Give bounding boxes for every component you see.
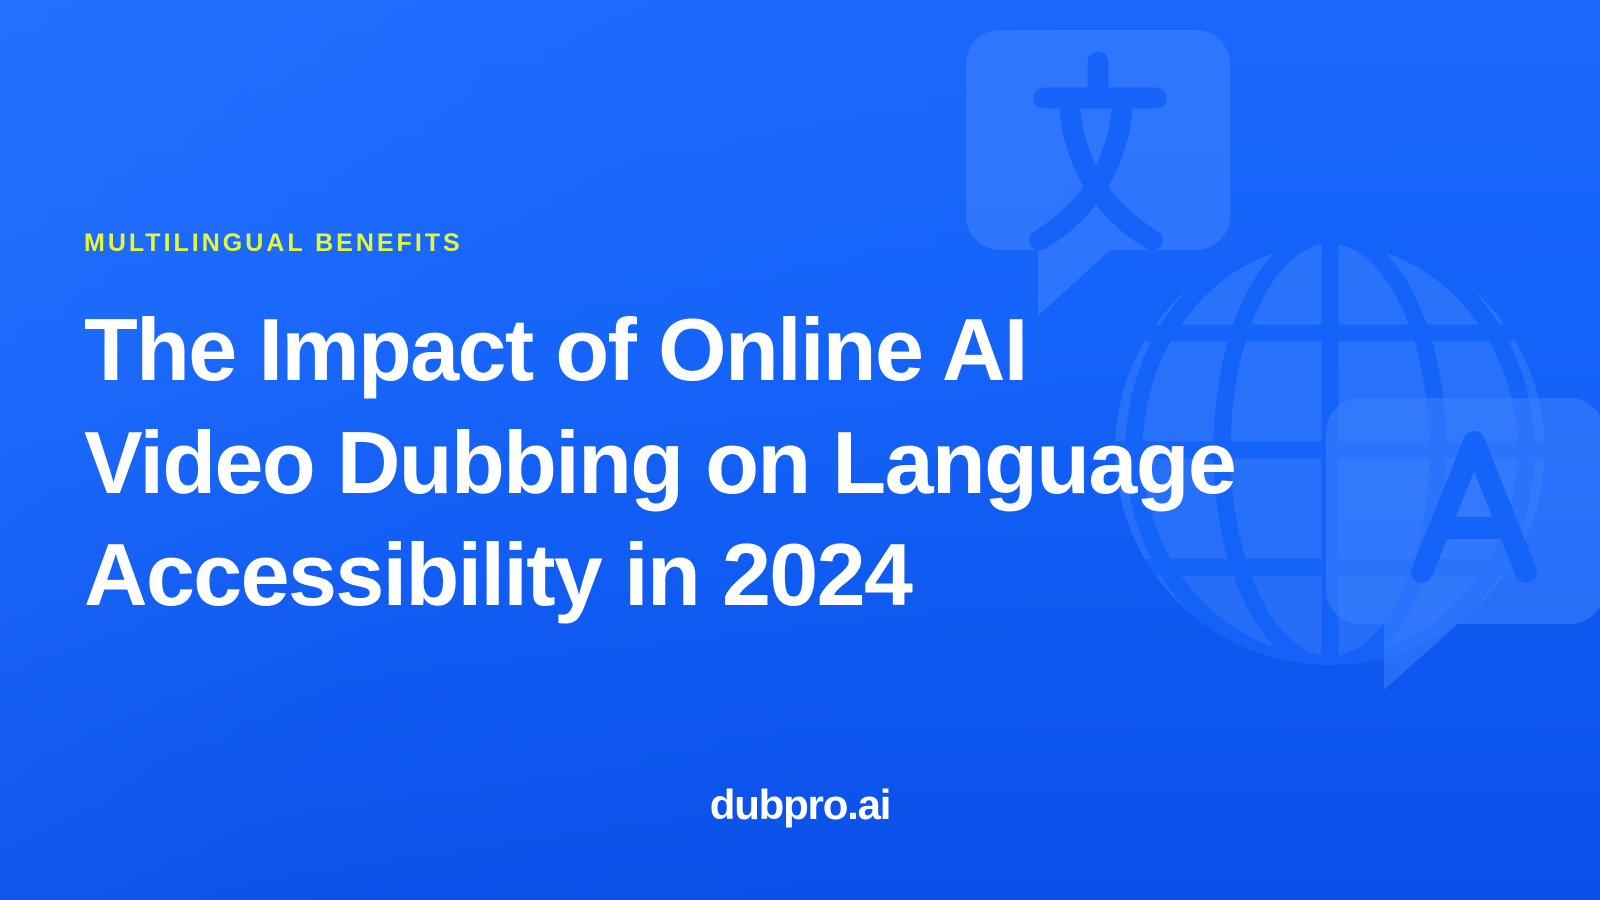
headline-line-3: Accessibility in 2024 [84, 519, 1324, 632]
promo-banner: MULTILINGUAL BENEFITS The Impact of Onli… [0, 0, 1600, 900]
page-title: The Impact of Online AI Video Dubbing on… [84, 294, 1324, 632]
headline-line-2: Video Dubbing on Language [84, 407, 1324, 520]
eyebrow-label: MULTILINGUAL BENEFITS [84, 228, 1324, 258]
speech-bubble-latin-icon [1326, 398, 1600, 690]
headline-line-1: The Impact of Online AI [84, 294, 1324, 407]
brand-logo-area: dubpro.ai [0, 784, 1600, 826]
brand-logo[interactable]: dubpro.ai [710, 784, 891, 826]
hero-content: MULTILINGUAL BENEFITS The Impact of Onli… [84, 228, 1324, 632]
